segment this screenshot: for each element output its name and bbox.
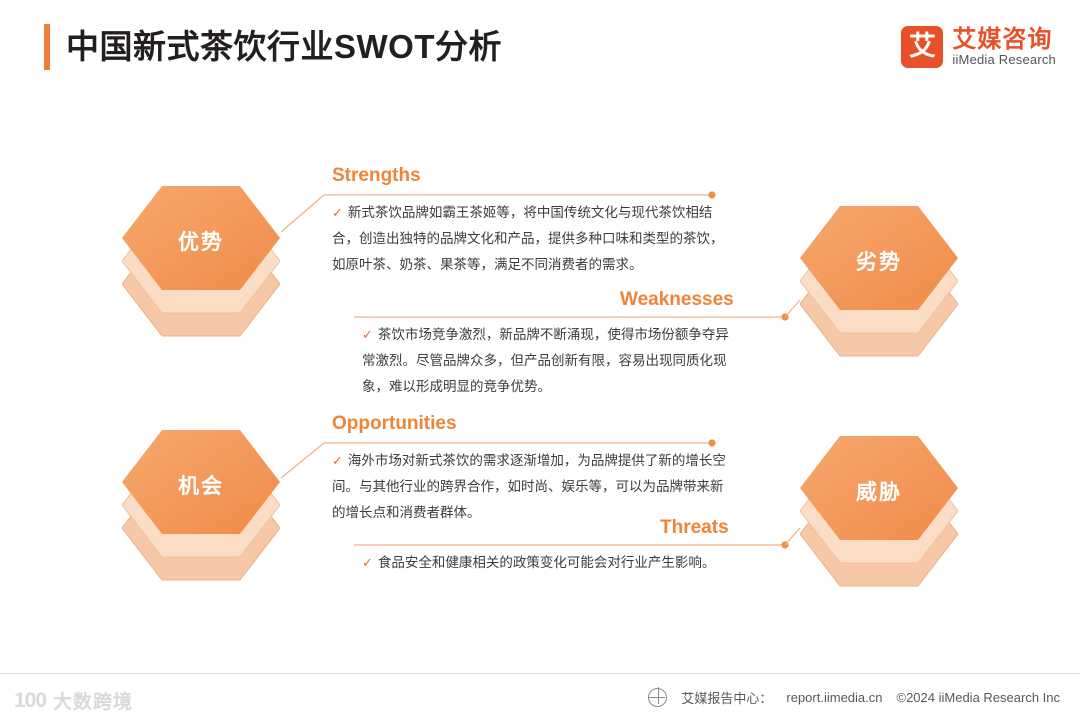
section-title-opportunities: Opportunities <box>332 413 457 435</box>
page-footer: 艾媒报告中心： report.iimedia.cn ©2024 iiMedia … <box>0 673 1080 720</box>
hex-label-opportunities: 机会 <box>142 470 260 500</box>
section-text: 海外市场对新式茶饮的需求逐渐增加，为品牌提供了新的增长空间。与其他行业的跨界合作… <box>332 453 726 520</box>
section-body-weaknesses: ✓茶饮市场竞争激烈，新品牌不断涌现，使得市场份额争夺异常激烈。尽管品牌众多，但产… <box>362 322 740 400</box>
section-text: 茶饮市场竞争激烈，新品牌不断涌现，使得市场份额争夺异常激烈。尽管品牌众多，但产品… <box>362 327 729 394</box>
page-header: 中国新式茶饮行业SWOT分析 艾 艾媒咨询 iiMedia Research <box>0 0 1080 100</box>
title-accent-bar <box>44 24 50 70</box>
section-body-threats: ✓食品安全和健康相关的政策变化可能会对行业产生影响。 <box>362 550 740 576</box>
section-text: 新式茶饮品牌如霸王茶姬等，将中国传统文化与现代茶饮相结合，创造出独特的品牌文化和… <box>332 205 724 272</box>
section-body-strengths: ✓新式茶饮品牌如霸王茶姬等，将中国传统文化与现代茶饮相结合，创造出独特的品牌文化… <box>332 200 732 278</box>
section-title-weaknesses: Weaknesses <box>620 289 734 311</box>
section-title-threats: Threats <box>660 517 729 539</box>
watermark-text: 大数跨境 <box>53 687 133 714</box>
logo-name-cn: 艾媒咨询 <box>952 27 1056 52</box>
logo-text: 艾媒咨询 iiMedia Research <box>952 27 1056 68</box>
globe-icon <box>648 688 667 707</box>
page-title: 中国新式茶饮行业SWOT分析 <box>66 24 502 70</box>
logo-mark-icon: 艾 <box>901 26 943 68</box>
check-icon: ✓ <box>362 555 373 570</box>
hex-label-threats: 威胁 <box>820 476 938 506</box>
check-icon: ✓ <box>332 453 343 468</box>
footer-content: 艾媒报告中心： report.iimedia.cn ©2024 iiMedia … <box>648 674 1060 720</box>
hex-label-weaknesses: 劣势 <box>820 246 938 276</box>
section-body-opportunities: ✓海外市场对新式茶饮的需求逐渐增加，为品牌提供了新的增长空间。与其他行业的跨界合… <box>332 448 732 526</box>
section-text: 食品安全和健康相关的政策变化可能会对行业产生影响。 <box>378 555 716 570</box>
check-icon: ✓ <box>332 205 343 220</box>
check-icon: ✓ <box>362 327 373 342</box>
footer-center-label: 艾媒报告中心： <box>681 688 772 707</box>
brand-logo: 艾 艾媒咨询 iiMedia Research <box>901 26 1056 68</box>
watermark: 100 大数跨境 <box>14 687 133 714</box>
section-title-strengths: Strengths <box>332 165 421 187</box>
footer-copyright: ©2024 iiMedia Research Inc <box>897 690 1061 705</box>
hex-label-strengths: 优势 <box>142 226 260 256</box>
logo-name-en: iiMedia Research <box>952 52 1056 68</box>
watermark-mark: 100 <box>14 689 46 713</box>
footer-link[interactable]: report.iimedia.cn <box>786 690 882 705</box>
